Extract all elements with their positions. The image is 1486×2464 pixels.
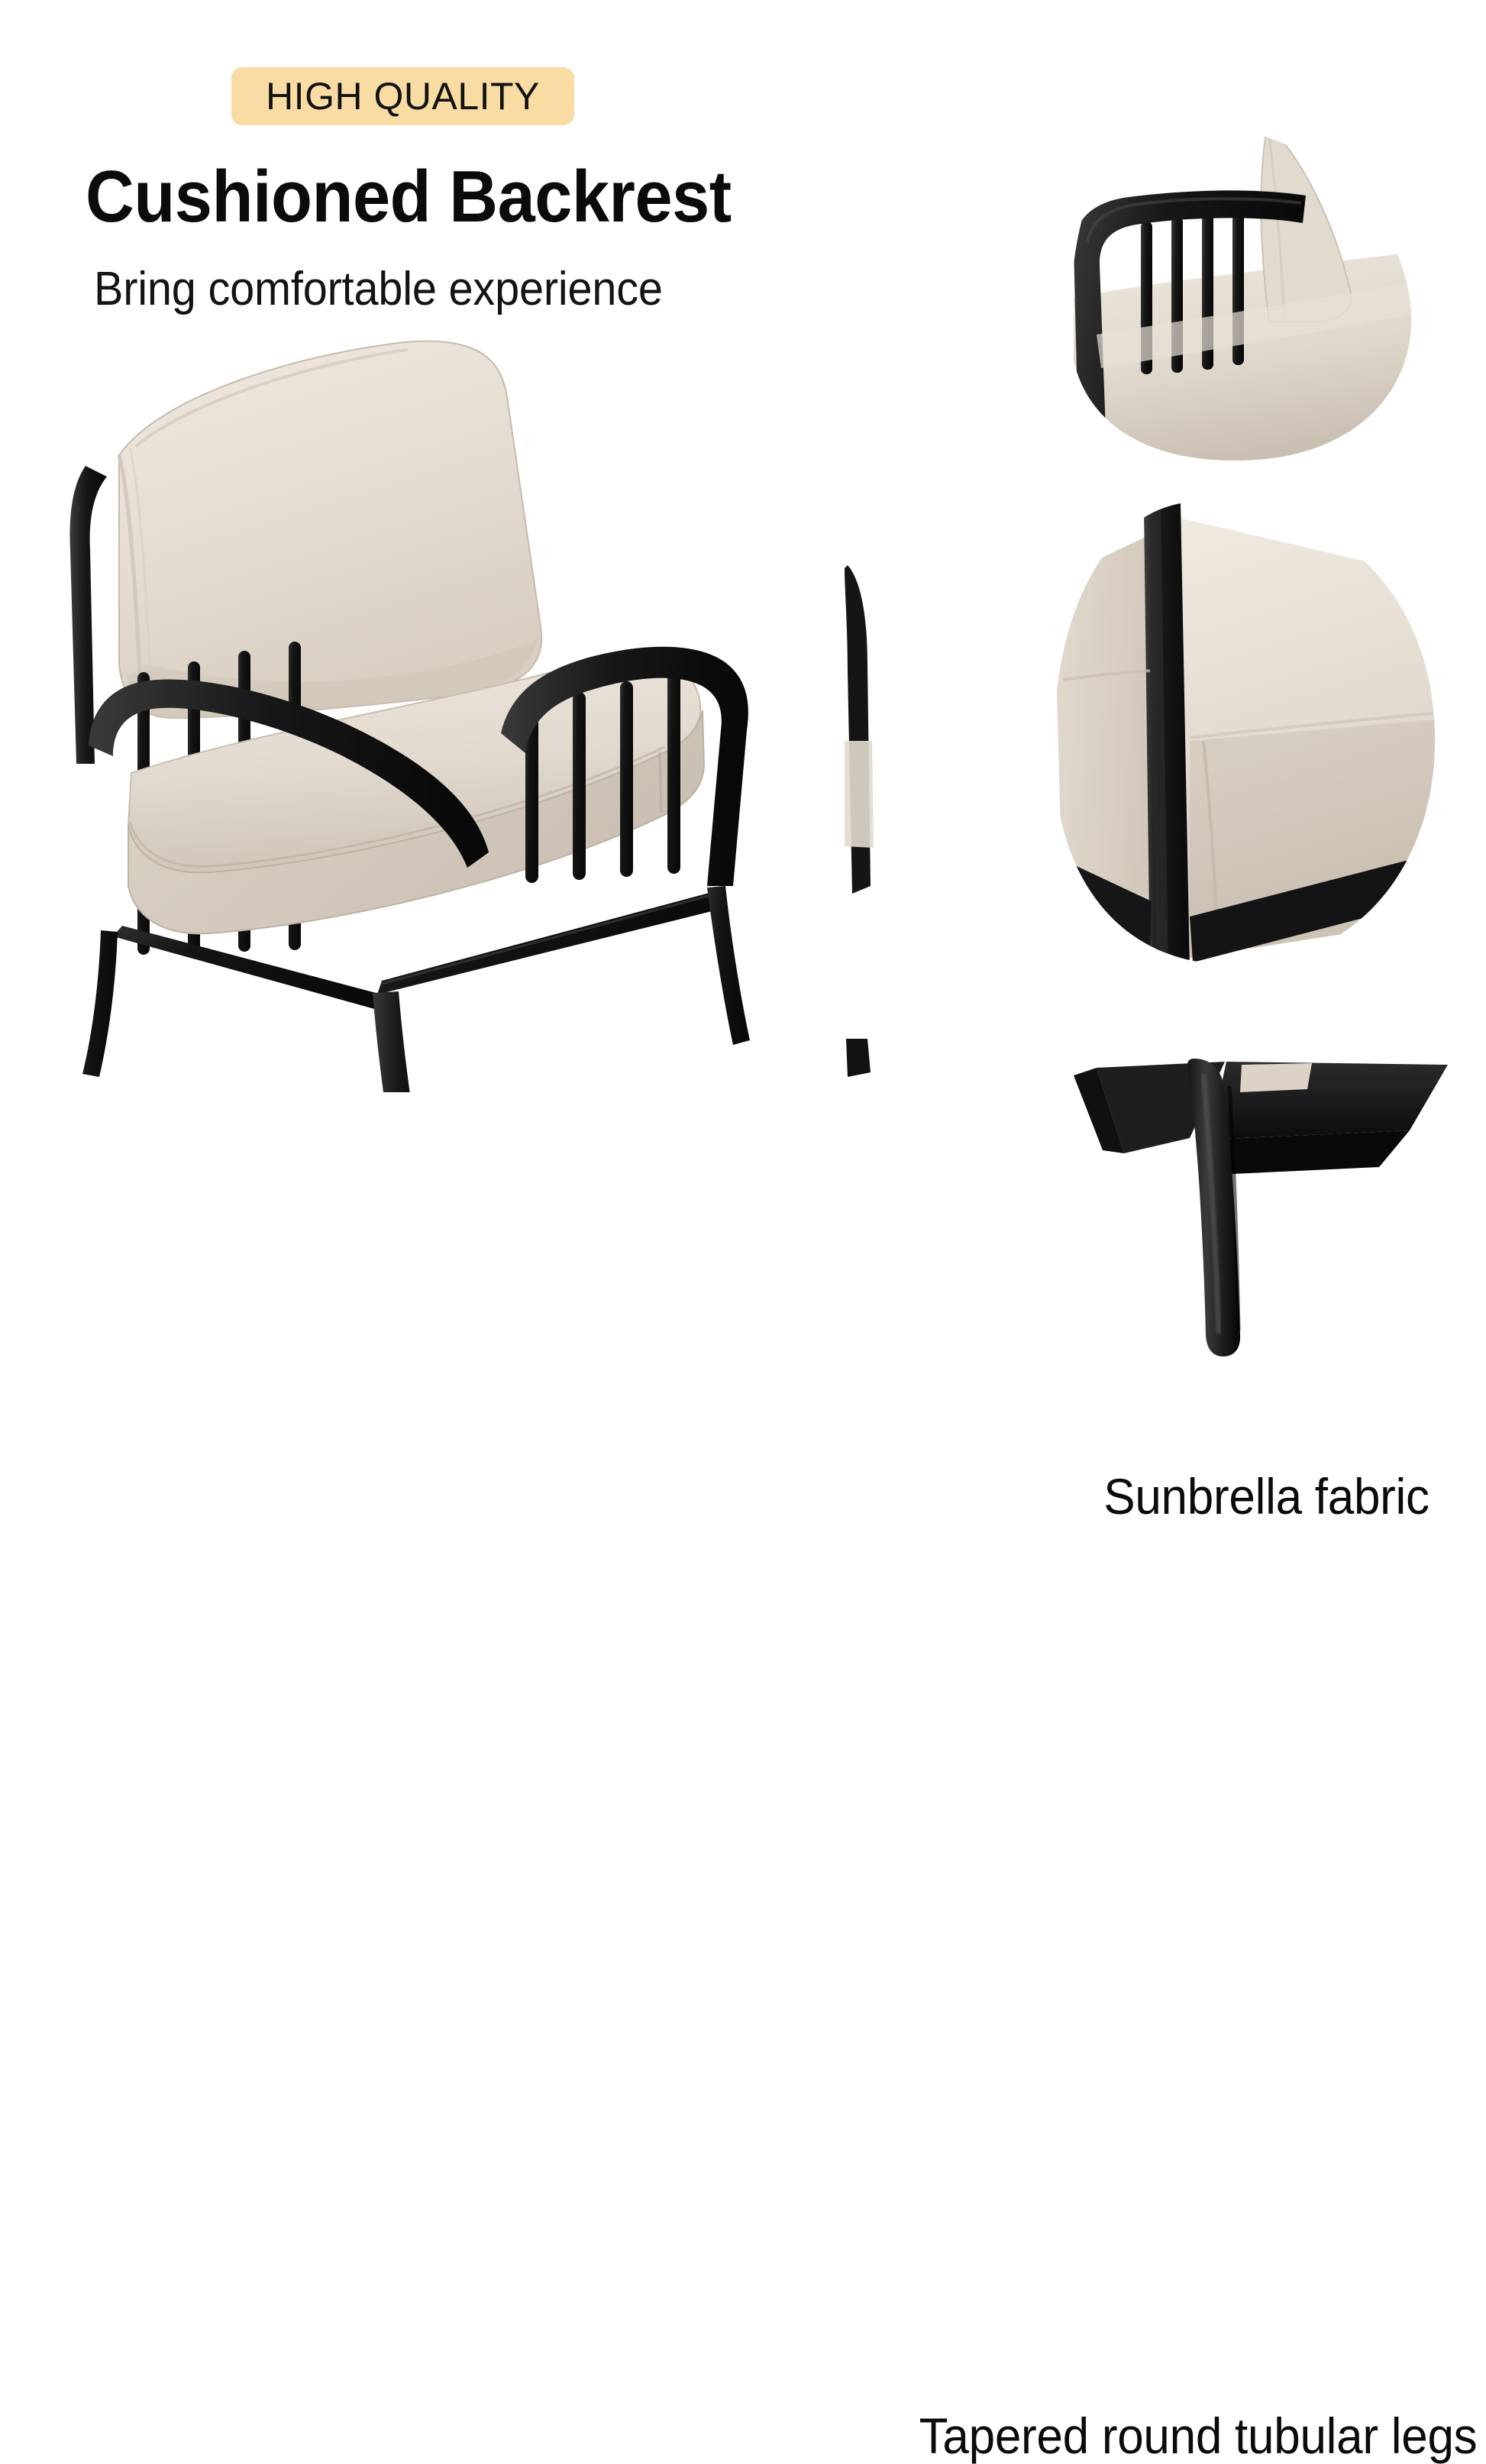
fabric-closeup-illustration [845,489,1486,978]
backrest-cushion [119,341,541,718]
tapered-leg-closeup-illustration [845,1039,1486,1367]
detail-card-sunbrella-fabric: Sunbrella fabric [845,489,1486,978]
detail-card-streamlined-frame: Streamlined frame design [845,107,1486,466]
page-title: Cushioned Backrest [86,159,732,235]
high-quality-badge: HIGH QUALITY [231,67,574,125]
badge-label: HIGH QUALITY [266,77,540,115]
detail-card-tapered-legs: Tapered round tubular legs [845,1039,1486,1367]
right-arm-assembly [501,647,748,886]
armchair-illustration [46,306,779,1092]
infographic-page: HIGH QUALITY Cushioned Backrest Bring co… [0,0,1486,1486]
hero-product-image [46,306,779,1092]
detail-caption-sunbrella-fabric: Sunbrella fabric [1103,1470,1429,1523]
detail-caption-tapered-legs: Tapered round tubular legs [919,2410,1477,2462]
arm-spindle-closeup-illustration [845,107,1486,466]
detail-image-tapered-legs [845,1039,1486,1367]
detail-image-sunbrella-fabric [845,489,1486,978]
detail-image-streamlined-frame [845,107,1486,466]
